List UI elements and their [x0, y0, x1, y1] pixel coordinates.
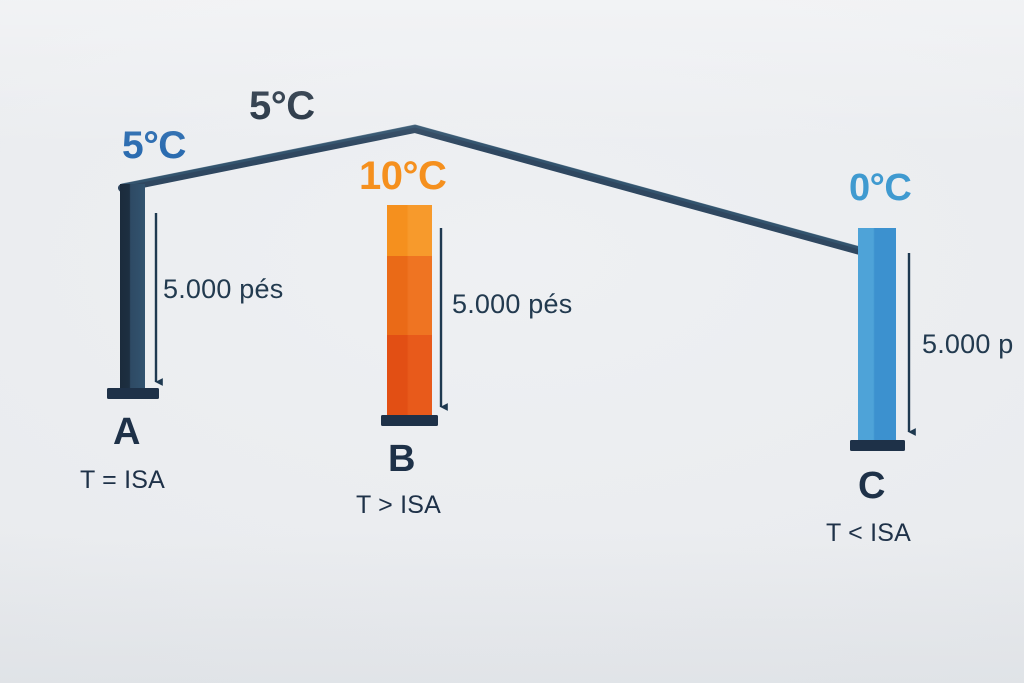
column-condition-b: T > ISA — [356, 493, 441, 518]
column-condition-a: T = ISA — [80, 468, 165, 493]
temp-label-top: 5°C — [249, 86, 315, 126]
diagram-canvas: 5°C 5°C 10°C 0°C 5.000 pés 5.000 pés 5.0… — [0, 0, 1024, 683]
distance-label-c: 5.000 p — [922, 331, 1013, 358]
column-a-group — [107, 184, 159, 399]
column-letter-b: B — [388, 440, 415, 478]
temp-label-b: 10°C — [359, 156, 446, 196]
column-c-base-plate — [850, 440, 905, 451]
distance-label-a: 5.000 pés — [163, 276, 283, 303]
column-b-base-plate — [381, 415, 438, 426]
column-letter-a: A — [113, 413, 140, 451]
column-b-bar-segment-middle — [387, 256, 432, 335]
column-b-bar-segment-bottom — [387, 335, 432, 415]
column-letter-c: C — [858, 467, 885, 505]
diagram-vector-layer — [0, 0, 1024, 683]
column-b-group — [381, 205, 441, 426]
pressure-surface-line — [122, 126, 860, 251]
column-b-bar-segment-top — [387, 205, 432, 256]
temp-label-c: 0°C — [849, 169, 911, 207]
column-a-base-plate — [107, 388, 159, 399]
column-condition-c: T < ISA — [826, 521, 911, 546]
column-c-group — [850, 228, 909, 451]
column-a-bar — [120, 184, 145, 390]
distance-label-b: 5.000 pés — [452, 291, 572, 318]
column-c-bar — [858, 228, 896, 440]
temp-label-a: 5°C — [122, 126, 186, 165]
